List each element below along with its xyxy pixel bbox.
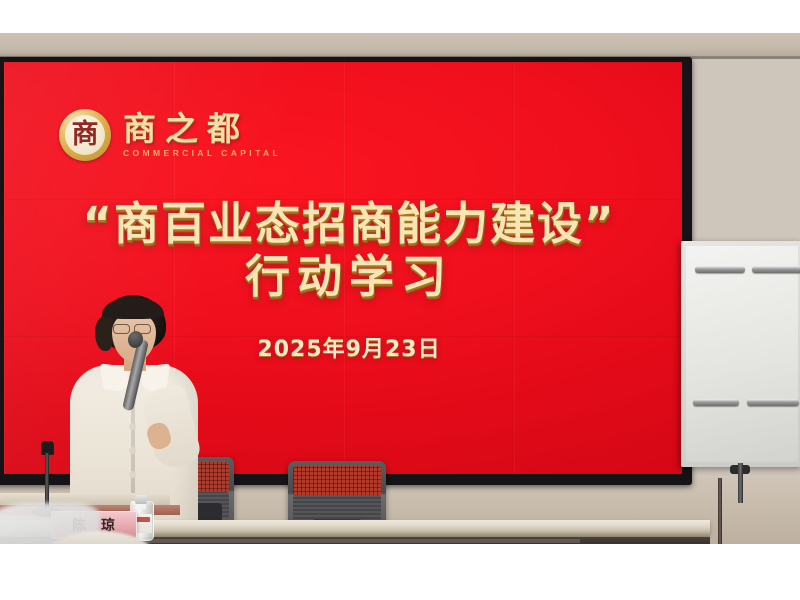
blouse-button <box>129 471 136 478</box>
flipchart-whiteboard <box>681 241 800 501</box>
brand-name-cn: 商之都 <box>123 112 281 147</box>
bottle-cap <box>135 495 147 504</box>
photograph: 商 商之都 COMMERCIAL CAPITAL “商百业态招商能力建设” 行动… <box>0 33 800 544</box>
flipchart-clip <box>695 266 745 273</box>
mic-stand-pole <box>45 453 49 509</box>
brand-logo: 商 商之都 COMMERCIAL CAPITAL <box>59 109 281 161</box>
flipchart-frame <box>681 241 800 467</box>
headline-line-1: “商百业态招商能力建设” <box>4 197 682 250</box>
presenter-bangs <box>102 297 164 319</box>
flipchart-stand-pole <box>738 463 743 503</box>
chair-lower-panel <box>293 495 381 521</box>
photo-stage: 商 商之都 COMMERCIAL CAPITAL “商百业态招商能力建设” 行动… <box>0 0 800 600</box>
company-emblem-icon: 商 <box>59 109 111 161</box>
flipchart-sheet <box>686 246 798 462</box>
office-chair <box>288 461 386 527</box>
eyeglass-lens-left <box>113 324 130 334</box>
flipchart-clip <box>747 399 799 406</box>
chair-mesh-panel <box>293 466 381 496</box>
flipchart-clip <box>752 266 800 273</box>
upper-wall <box>0 33 800 59</box>
brand-text-block: 商之都 COMMERCIAL CAPITAL <box>123 112 281 159</box>
blouse-button <box>129 447 136 454</box>
brand-name-en: COMMERCIAL CAPITAL <box>123 148 281 158</box>
flipchart-clip <box>693 399 739 406</box>
emblem-inner-disc: 商 <box>65 115 105 155</box>
blouse-button <box>129 423 136 430</box>
emblem-glyph: 商 <box>72 121 99 148</box>
